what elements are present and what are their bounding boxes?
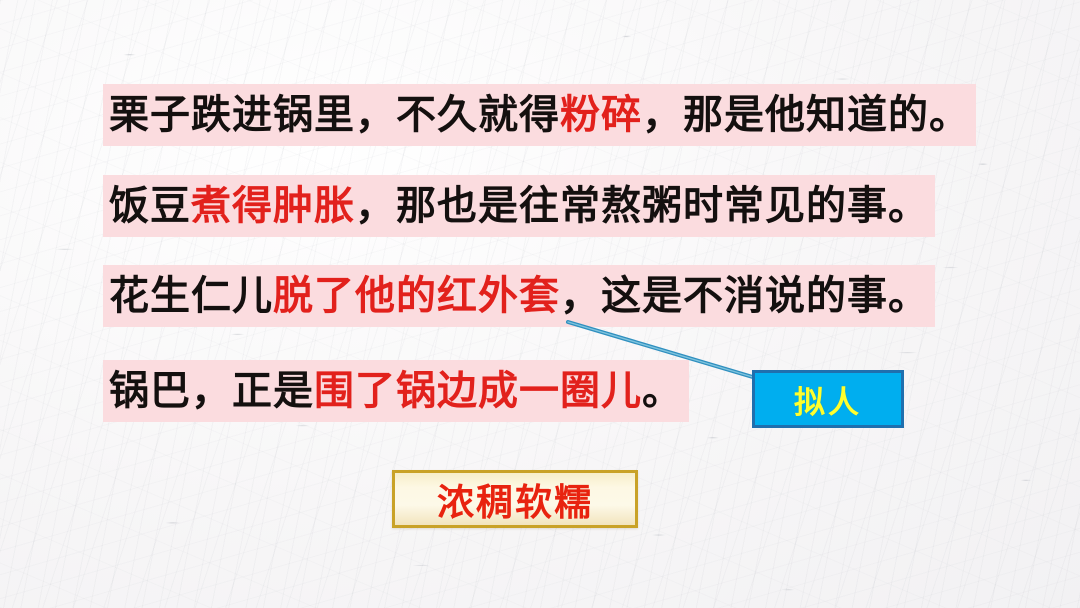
- line-2-segment-3: ，那也是往常熬粥时常见的事。: [355, 182, 929, 229]
- line-1-segment-3: ，那是他知道的。: [642, 91, 970, 138]
- sentence-line-3: 花生仁儿脱了他的红外套，这是不消说的事。: [103, 265, 935, 327]
- slide-canvas: 栗子跌进锅里，不久就得粉碎，那是他知道的。 饭豆煮得肿胀，那也是往常熬粥时常见的…: [0, 0, 1080, 608]
- line-3-segment-1: 花生仁儿: [109, 272, 273, 319]
- callout-box-personification[interactable]: 拟人: [752, 370, 904, 428]
- callout-label: 拟人: [794, 377, 862, 422]
- line-1-keyword: 粉碎: [560, 91, 642, 138]
- sentence-line-4: 锅巴，正是围了锅边成一圈儿。: [103, 360, 689, 422]
- line-3-keyword: 脱了他的红外套: [273, 272, 560, 319]
- sentence-line-2: 饭豆煮得肿胀，那也是往常熬粥时常见的事。: [103, 175, 935, 237]
- line-4-keyword: 围了锅边成一圈儿: [314, 367, 642, 414]
- sentence-line-1: 栗子跌进锅里，不久就得粉碎，那是他知道的。: [103, 84, 976, 146]
- line-4-segment-3: 。: [642, 367, 683, 414]
- line-3-segment-3: ，这是不消说的事。: [560, 272, 929, 319]
- line-2-segment-1: 饭豆: [109, 182, 191, 229]
- line-1-segment-1: 栗子跌进锅里，不久就得: [109, 91, 560, 138]
- line-2-keyword: 煮得肿胀: [191, 182, 355, 229]
- summary-label: 浓稠软糯: [437, 472, 593, 526]
- line-4-segment-1: 锅巴，正是: [109, 367, 314, 414]
- summary-box[interactable]: 浓稠软糯: [392, 470, 638, 528]
